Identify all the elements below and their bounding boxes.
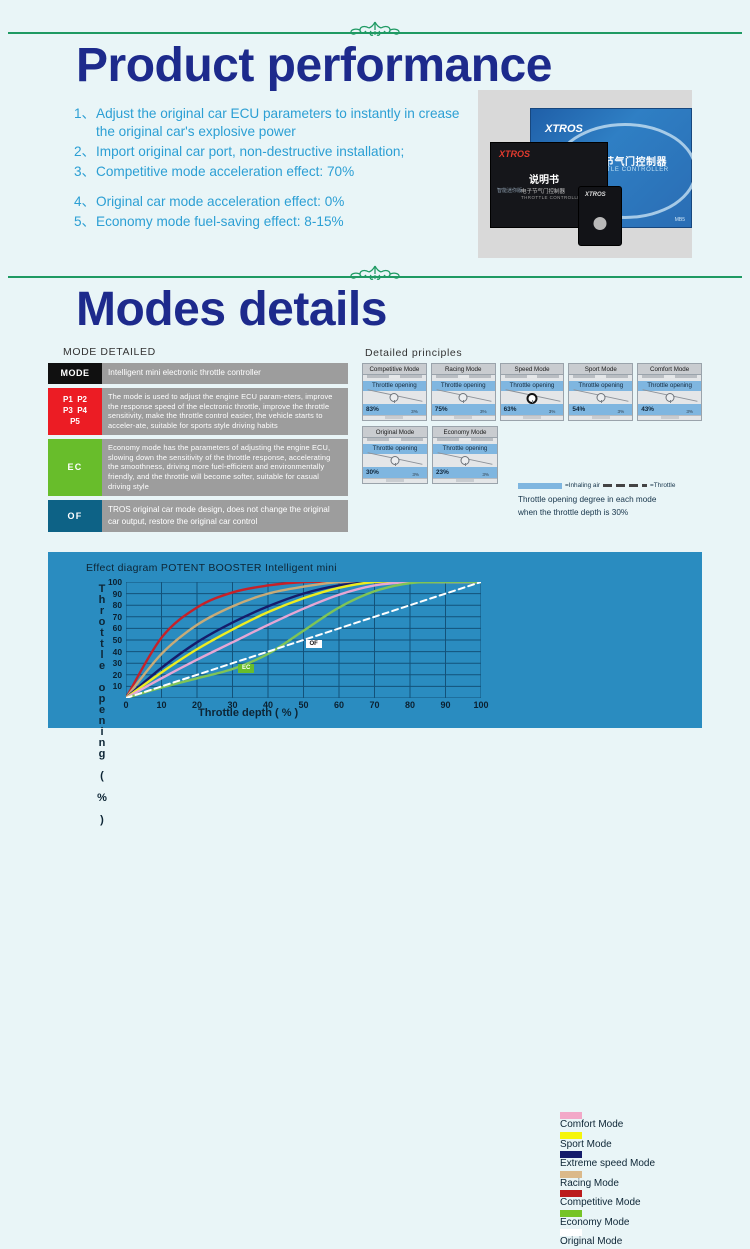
chart-legend-item: Racing Mode [560, 1171, 750, 1190]
effect-diagram-chart: Effect diagram POTENT BOOSTER Intelligen… [48, 552, 702, 728]
inhaling-air-swatch [518, 483, 562, 489]
unit-button-icon [594, 217, 607, 230]
principle-card-title: Sport Mode [569, 364, 632, 375]
manual-title-cn: 说明书 [529, 171, 559, 186]
card-tab-graphic [437, 438, 493, 442]
list-item: 5、 Economy mode fuel-saving effect: 8-15… [74, 213, 474, 231]
page-title-modes-details: Modes details [76, 282, 387, 337]
unit-brand-label: XTROS [585, 192, 606, 198]
y-tick-label: 100 [102, 577, 122, 587]
manual-subtitle-en: THROTTLE CONTROLLER [521, 195, 584, 200]
chart-legend-swatch [560, 1132, 582, 1139]
y-tick-label: 90 [102, 589, 122, 599]
chart-annotation-of: OF [306, 640, 322, 649]
manual-subtitle-cn: 电子节气门控制器 [521, 187, 565, 195]
y-tick-label: 60 [102, 623, 122, 633]
chart-legend-swatch [560, 1190, 582, 1197]
box-brand-label: XTROS [545, 123, 583, 135]
table-row: EC Economy mode has the parameters of ad… [48, 439, 348, 496]
chart-y-ticks: 102030405060708090100 [98, 582, 122, 698]
card-depth-marker: 3% [482, 472, 489, 477]
card-depth-marker: 3% [618, 409, 625, 414]
product-marketing-page: Product performance 1、 Adjust the origin… [0, 0, 750, 750]
inhaling-air-label: =Inhaling air [565, 482, 600, 489]
x-tick-label: 50 [298, 700, 308, 710]
list-item: 3、 Competitive mode acceleration effect:… [74, 163, 474, 181]
y-label-char: ) [94, 815, 110, 826]
principle-card-body: Throttle opening30%3% [363, 438, 427, 478]
principle-card-title: Original Mode [363, 427, 427, 438]
detailed-principles-label: Detailed principles [365, 347, 462, 359]
principle-card-body: Throttle opening43%3% [638, 375, 701, 415]
principle-card-grid: Competitive ModeThrottle opening83%3%Rac… [362, 363, 702, 489]
card-tab-graphic [505, 375, 560, 379]
throttle-label: =Throttle [650, 482, 675, 489]
card-tab-graphic [436, 375, 491, 379]
chart-legend-item: Extreme speed Mode [560, 1151, 750, 1170]
chart-legend-label: Comfort Mode [560, 1120, 750, 1131]
y-tick-label: 20 [102, 670, 122, 680]
y-tick-label: 80 [102, 600, 122, 610]
list-item-number: 2、 [74, 143, 96, 161]
principle-card: Original ModeThrottle opening30%3% [362, 426, 428, 484]
principle-card: Speed ModeThrottle opening63%3% [500, 363, 565, 421]
table-row-desc: The mode is used to adjust the engine EC… [102, 388, 348, 435]
table-row-key: P1 P2P3 P4P5 [48, 388, 102, 435]
y-label-char: ( [94, 771, 110, 782]
mode-detail-table: MODE Intelligent mini electronic throttl… [48, 363, 348, 536]
chart-series-svg [126, 582, 481, 698]
principle-card-title: Racing Mode [432, 364, 495, 375]
y-label-char: % [94, 793, 110, 804]
list-item-text: Competitive mode acceleration effect: 70… [96, 163, 474, 181]
principle-card-title: Economy Mode [433, 427, 497, 438]
list-item: 1、 Adjust the original car ECU parameter… [74, 105, 474, 141]
principle-card: Competitive ModeThrottle opening83%3% [362, 363, 427, 421]
chart-legend-item: Sport Mode [560, 1132, 750, 1151]
principle-card-title: Competitive Mode [363, 364, 426, 375]
card-tab-graphic [367, 438, 423, 442]
card-footer-graphic [501, 415, 564, 420]
chart-title: Effect diagram POTENT BOOSTER Intelligen… [86, 562, 337, 574]
card-tab-graphic [573, 375, 628, 379]
list-item: 4、 Original car mode acceleration effect… [74, 193, 474, 211]
chart-legend-label: Racing Mode [560, 1179, 750, 1190]
ornament-icon [340, 20, 410, 40]
ornament-icon [340, 264, 410, 284]
card-depth-marker: 3% [686, 409, 693, 414]
y-tick-label: 30 [102, 658, 122, 668]
principle-card: Racing ModeThrottle opening75%3% [431, 363, 496, 421]
card-depth-marker: 3% [480, 409, 487, 414]
chart-legend-swatch [560, 1151, 582, 1158]
list-item-text: Original car mode acceleration effect: 0… [96, 193, 474, 211]
principle-legend: =Inhaling air =Throttle Throttle opening… [518, 482, 718, 519]
table-row-desc: Economy mode has the parameters of adjus… [102, 439, 348, 496]
chart-legend-swatch [560, 1229, 582, 1236]
principle-card-title: Speed Mode [501, 364, 564, 375]
list-item-number: 1、 [74, 105, 96, 141]
principle-card-body: Throttle opening83%3% [363, 375, 426, 415]
card-footer-graphic [569, 415, 632, 420]
list-item-number: 3、 [74, 163, 96, 181]
table-row-key: EC [48, 439, 102, 496]
table-row: MODE Intelligent mini electronic throttl… [48, 363, 348, 384]
principle-card-body: Throttle opening54%3% [569, 375, 632, 415]
principle-card: Comfort ModeThrottle opening43%3% [637, 363, 702, 421]
x-tick-label: 0 [123, 700, 128, 710]
y-label-char [94, 782, 110, 793]
x-tick-label: 90 [440, 700, 450, 710]
principle-legend-keys: =Inhaling air =Throttle [518, 482, 718, 489]
caption-line-2: when the throttle depth is 30% [518, 507, 718, 520]
x-tick-label: 70 [369, 700, 379, 710]
chart-legend-label: Economy Mode [560, 1218, 750, 1229]
chart-legend-label: Sport Mode [560, 1140, 750, 1151]
x-tick-label: 100 [473, 700, 488, 710]
list-item-number: 4、 [74, 193, 96, 211]
chart-legend-swatch [560, 1171, 582, 1178]
principle-card-body: Throttle opening23%3% [433, 438, 497, 478]
list-item-number: 5、 [74, 213, 96, 231]
p-mode-list: P1 P2P3 P4P5 [63, 395, 87, 427]
principle-card-title: Comfort Mode [638, 364, 701, 375]
caption-line-1: Throttle opening degree in each mode [518, 494, 718, 507]
x-tick-label: 10 [156, 700, 166, 710]
principle-card-body: Throttle opening63%3% [501, 375, 564, 415]
list-item-text: Adjust the original car ECU parameters t… [96, 105, 474, 141]
x-tick-label: 60 [334, 700, 344, 710]
table-row-key: MODE [48, 363, 102, 384]
y-tick-label: 10 [102, 681, 122, 691]
throttle-swatch [603, 484, 647, 487]
y-tick-label: 50 [102, 635, 122, 645]
card-footer-graphic [638, 415, 701, 420]
chart-x-ticks: 0102030405060708090100 [126, 700, 481, 714]
table-row-desc: Intelligent mini electronic throttle con… [102, 363, 348, 384]
chart-legend-swatch [560, 1210, 582, 1217]
chart-legend-item: Competitive Mode [560, 1190, 750, 1209]
manual-brand-label: XTROS [499, 149, 530, 159]
list-item: 2、 Import original car port, non-destruc… [74, 143, 474, 161]
manual-side-cn: 智能迷你版 [497, 187, 522, 194]
table-row-key: OF [48, 500, 102, 533]
card-footer-graphic [433, 478, 497, 483]
y-tick-label: 40 [102, 647, 122, 657]
list-item-text: Economy mode fuel-saving effect: 8-15% [96, 213, 474, 231]
chart-annotation-ec: EC [238, 664, 254, 673]
principle-legend-caption: Throttle opening degree in each mode whe… [518, 494, 718, 519]
x-tick-label: 80 [405, 700, 415, 710]
card-tab-graphic [367, 375, 422, 379]
product-photo: XTROS 电子节气门控制器 THROTTLE CONTROLLER MB5 X… [478, 90, 692, 258]
card-footer-graphic [432, 415, 495, 420]
chart-legend-item: Original Mode [560, 1229, 750, 1248]
chart-legend-label: Extreme speed Mode [560, 1159, 750, 1170]
y-label-char [94, 804, 110, 815]
table-row: OF TROS original car mode design, does n… [48, 500, 348, 533]
card-depth-marker: 3% [412, 472, 419, 477]
chart-legend-label: Competitive Mode [560, 1198, 750, 1209]
box-model-label: MB5 [675, 217, 685, 223]
chart-legend-label: Original Mode [560, 1237, 750, 1248]
chart-legend: Comfort ModeSport ModeExtreme speed Mode… [560, 1112, 750, 1249]
y-tick-label: 70 [102, 612, 122, 622]
mode-detailed-label: MODE DETAILED [63, 346, 156, 358]
chart-x-axis-label: Throttle depth ( % ) [198, 707, 298, 719]
table-row: P1 P2P3 P4P5 The mode is used to adjust … [48, 388, 348, 435]
y-label-char [94, 760, 110, 771]
card-footer-graphic [363, 478, 427, 483]
table-row-desc: TROS original car mode design, does not … [102, 500, 348, 533]
chart-plot-area: OF EC [126, 582, 481, 698]
card-footer-graphic [363, 415, 426, 420]
list-item-text: Import original car port, non-destructiv… [96, 143, 474, 161]
principle-card-row: Competitive ModeThrottle opening83%3%Rac… [362, 363, 702, 421]
principle-card-body: Throttle opening75%3% [432, 375, 495, 415]
product-unit: XTROS [578, 186, 622, 246]
product-feature-list: 1、 Adjust the original car ECU parameter… [74, 105, 474, 233]
y-label-char: g [94, 749, 110, 760]
card-tab-graphic [642, 375, 697, 379]
principle-card: Sport ModeThrottle opening54%3% [568, 363, 633, 421]
card-depth-marker: 3% [411, 409, 418, 414]
chart-legend-item: Comfort Mode [560, 1112, 750, 1131]
card-depth-marker: 3% [549, 409, 556, 414]
principle-card-row: Original ModeThrottle opening30%3%Econom… [362, 426, 702, 484]
chart-legend-item: Economy Mode [560, 1210, 750, 1229]
chart-legend-swatch [560, 1112, 582, 1119]
page-title-product-performance: Product performance [76, 38, 552, 93]
principle-card: Economy ModeThrottle opening23%3% [432, 426, 498, 484]
